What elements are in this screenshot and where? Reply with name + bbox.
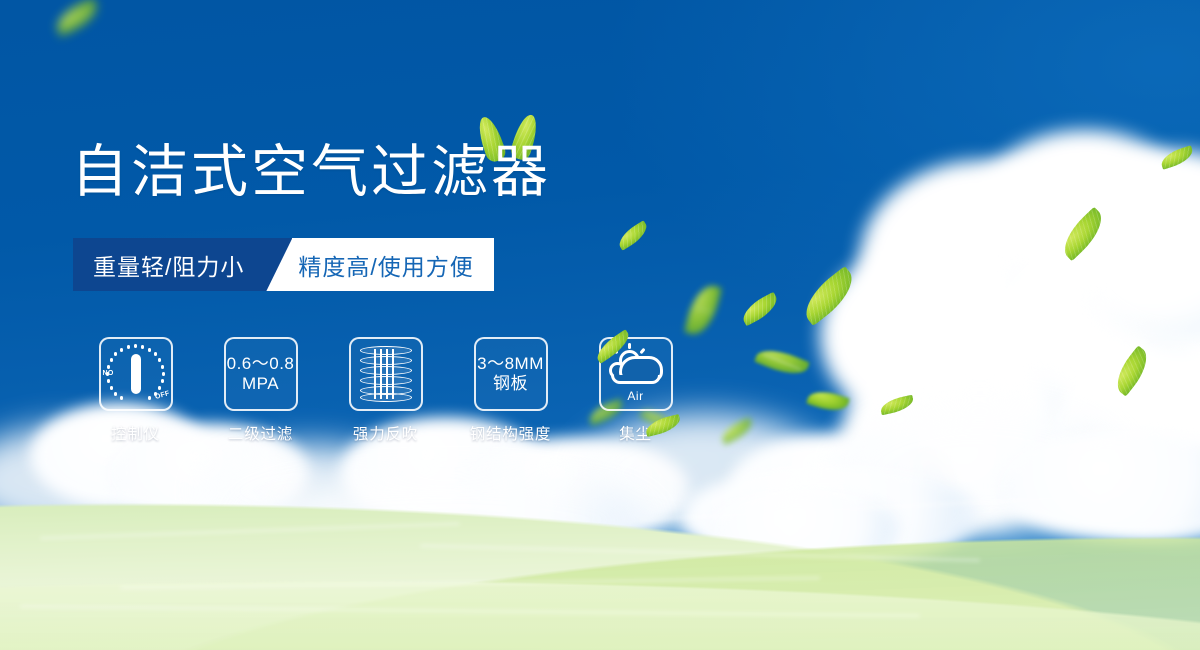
- grass-foreground: [0, 486, 1200, 650]
- feature-item-two-stage-filter[interactable]: 0.6〜0.8 MPA 二级过滤: [198, 337, 323, 444]
- dial-off-label: OFF: [154, 390, 170, 401]
- feature-item-dust-collection[interactable]: Air 集尘: [573, 337, 698, 444]
- feature-icon-box: [349, 337, 423, 411]
- pressure-value-icon: 0.6〜0.8 MPA: [227, 354, 295, 393]
- steel-plate-icon: 3〜8MM 钢板: [477, 354, 544, 393]
- feature-item-control-dial[interactable]: NO OFF 控制仪: [73, 337, 198, 444]
- dial-on-label: NO: [103, 370, 114, 377]
- feature-icon-box: NO OFF: [99, 337, 173, 411]
- feature-label: 强力反吹: [353, 422, 418, 444]
- feature-icon-box: 0.6〜0.8 MPA: [224, 337, 298, 411]
- filter-stack-icon: [360, 346, 412, 402]
- hero-banner: 自洁式空气过滤器 重量轻/阻力小 精度高/使用方便: [0, 0, 1200, 650]
- page-title: 自洁式空气过滤器: [71, 143, 551, 201]
- steel-line-2: 钢板: [477, 374, 544, 394]
- feature-item-backblow[interactable]: 强力反吹: [323, 337, 448, 444]
- subtitle-right-segment: 精度高/使用方便: [292, 238, 493, 291]
- pressure-line-2: MPA: [227, 374, 295, 394]
- feature-label: 控制仪: [111, 422, 160, 444]
- feature-item-steel-strength[interactable]: 3〜8MM 钢板 钢结构强度: [448, 337, 573, 444]
- subtitle-left-segment: 重量轻/阻力小: [73, 238, 266, 291]
- subtitle-bar: 重量轻/阻力小 精度高/使用方便: [73, 238, 494, 291]
- feature-label: 二级过滤: [228, 422, 293, 444]
- air-cloud-icon: Air: [607, 348, 665, 400]
- dial-pointer: [131, 354, 141, 394]
- feature-label: 钢结构强度: [470, 422, 552, 444]
- feature-icon-box: Air: [599, 337, 673, 411]
- air-label: Air: [607, 389, 665, 403]
- steel-line-1: 3〜8MM: [477, 354, 544, 374]
- subtitle-wedge-divider: [266, 238, 292, 291]
- feature-icon-box: 3〜8MM 钢板: [474, 337, 548, 411]
- pressure-line-1: 0.6〜0.8: [227, 354, 295, 374]
- feature-list: NO OFF 控制仪 0.6〜0.8 MPA 二级过滤: [73, 337, 698, 444]
- control-dial-icon: NO OFF: [104, 342, 168, 406]
